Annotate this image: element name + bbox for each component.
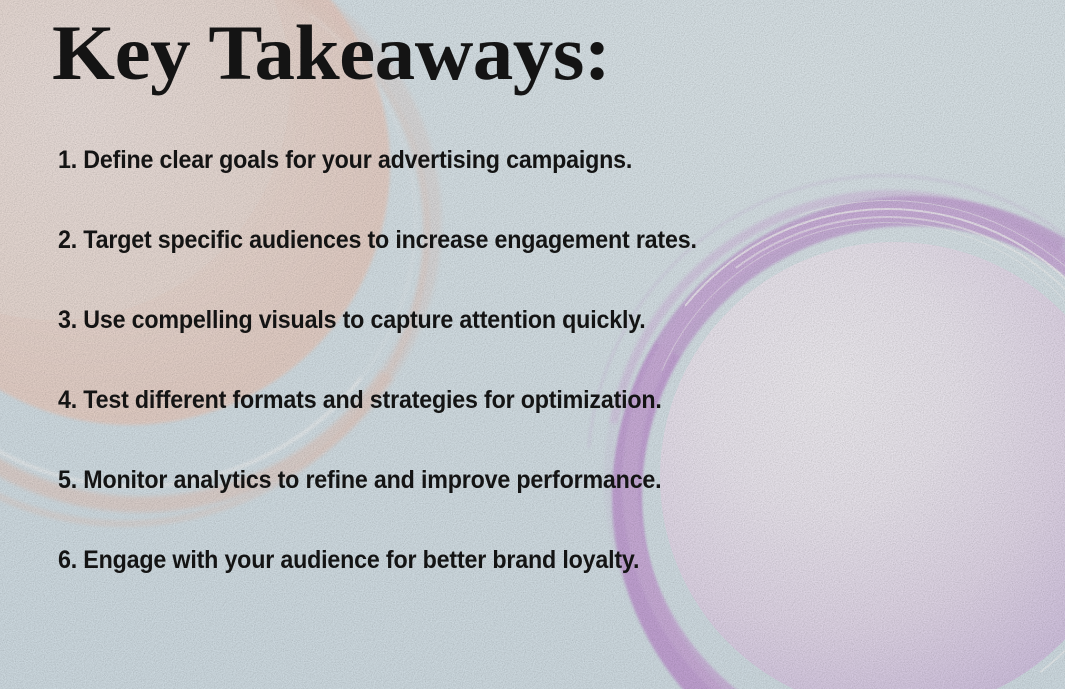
list-item: 6. Engage with your audience for better … bbox=[58, 548, 709, 573]
takeaways-list: 1. Define clear goals for your advertisi… bbox=[58, 148, 758, 573]
list-item: 3. Use compelling visuals to capture att… bbox=[58, 308, 709, 333]
list-item: 2. Target specific audiences to increase… bbox=[58, 228, 709, 253]
page-title: Key Takeaways: bbox=[52, 14, 610, 92]
slide-canvas: Key Takeaways: 1. Define clear goals for… bbox=[0, 0, 1065, 689]
list-item: 1. Define clear goals for your advertisi… bbox=[58, 148, 709, 173]
list-item: 5. Monitor analytics to refine and impro… bbox=[58, 468, 709, 493]
content-layer: Key Takeaways: 1. Define clear goals for… bbox=[0, 0, 1065, 689]
list-item: 4. Test different formats and strategies… bbox=[58, 388, 709, 413]
